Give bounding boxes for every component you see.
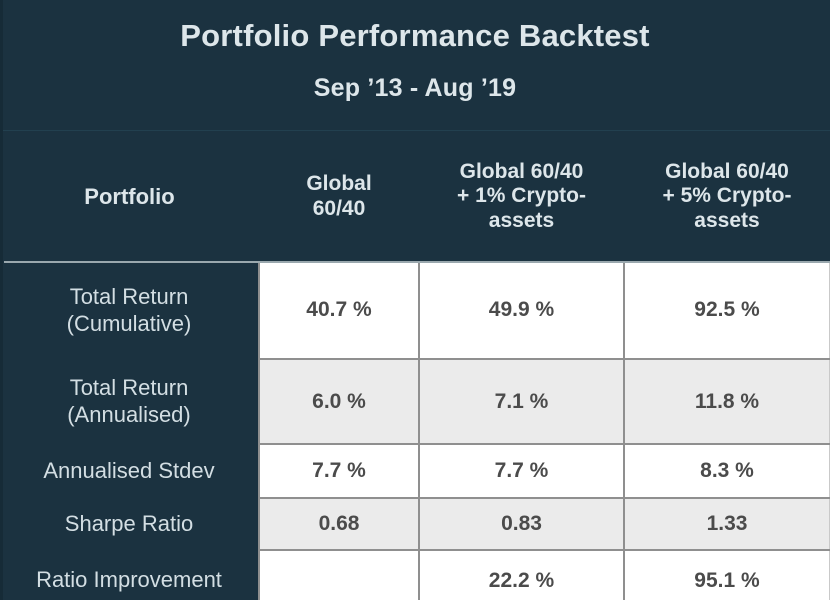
table-row: Ratio Improvement 22.2 % 95.1 % xyxy=(0,550,830,600)
header-top-hairline xyxy=(0,130,830,131)
performance-table: Portfolio Global 60/40 Global 60/40 + 1%… xyxy=(0,131,830,600)
table-header-row: Portfolio Global 60/40 Global 60/40 + 1%… xyxy=(0,131,830,262)
table-header: Portfolio Global 60/40 Global 60/40 + 1%… xyxy=(0,131,830,262)
column-header-portfolio: Portfolio xyxy=(0,131,259,262)
table-row: Sharpe Ratio 0.68 0.83 1.33 xyxy=(0,498,830,550)
cell-value: 95.1 % xyxy=(624,550,830,600)
cell-value: 92.5 % xyxy=(624,262,830,359)
column-header-line-2: + 5% Crypto- xyxy=(663,184,792,207)
row-label-line-1: Total Return xyxy=(70,284,189,309)
cell-value: 11.8 % xyxy=(624,359,830,444)
column-header-line-2: + 1% Crypto- xyxy=(457,184,586,207)
row-label-total-return-annualised: Total Return (Annualised) xyxy=(0,359,259,444)
cell-value: 1.33 xyxy=(624,498,830,550)
cell-value: 8.3 % xyxy=(624,444,830,498)
row-label-annualised-stdev: Annualised Stdev xyxy=(0,444,259,498)
page-subtitle: Sep ’13 - Aug ’19 xyxy=(0,74,830,103)
row-label-sharpe-ratio: Sharpe Ratio xyxy=(0,498,259,550)
cell-value: 0.83 xyxy=(419,498,624,550)
cell-value-empty xyxy=(259,550,419,600)
table-row: Annualised Stdev 7.7 % 7.7 % 8.3 % xyxy=(0,444,830,498)
cell-value: 0.68 xyxy=(259,498,419,550)
title-block: Portfolio Performance Backtest Sep ’13 -… xyxy=(0,0,830,103)
column-header-line-1: Global 60/40 xyxy=(665,160,789,183)
cell-value: 40.7 % xyxy=(259,262,419,359)
row-label-ratio-improvement: Ratio Improvement xyxy=(0,550,259,600)
column-header-line-1: Global xyxy=(306,172,371,195)
row-label-total-return-cumulative: Total Return (Cumulative) xyxy=(0,262,259,359)
table-row: Total Return (Cumulative) 40.7 % 49.9 % … xyxy=(0,262,830,359)
column-header-global-6040-1pct-crypto: Global 60/40 + 1% Crypto- assets xyxy=(419,131,624,262)
table-body: Total Return (Cumulative) 40.7 % 49.9 % … xyxy=(0,262,830,600)
column-header-global-6040: Global 60/40 xyxy=(259,131,419,262)
column-header-line-2: 60/40 xyxy=(313,197,366,220)
row-label-line-2: (Cumulative) xyxy=(67,311,192,336)
cell-value: 6.0 % xyxy=(259,359,419,444)
cell-value: 22.2 % xyxy=(419,550,624,600)
row-label-line-1: Total Return xyxy=(70,375,189,400)
header-body-divider xyxy=(4,261,830,263)
table-row: Total Return (Annualised) 6.0 % 7.1 % 11… xyxy=(0,359,830,444)
cell-value: 7.7 % xyxy=(259,444,419,498)
column-header-line-3: assets xyxy=(489,209,554,232)
row-label-line-2: (Annualised) xyxy=(67,402,191,427)
column-header-line-3: assets xyxy=(694,209,759,232)
page-title: Portfolio Performance Backtest xyxy=(0,18,830,54)
cell-value: 49.9 % xyxy=(419,262,624,359)
cell-value: 7.7 % xyxy=(419,444,624,498)
left-edge-accent xyxy=(0,0,3,600)
cell-value: 7.1 % xyxy=(419,359,624,444)
column-header-global-6040-5pct-crypto: Global 60/40 + 5% Crypto- assets xyxy=(624,131,830,262)
column-header-line-1: Global 60/40 xyxy=(460,160,584,183)
slide-canvas: Portfolio Performance Backtest Sep ’13 -… xyxy=(0,0,830,600)
